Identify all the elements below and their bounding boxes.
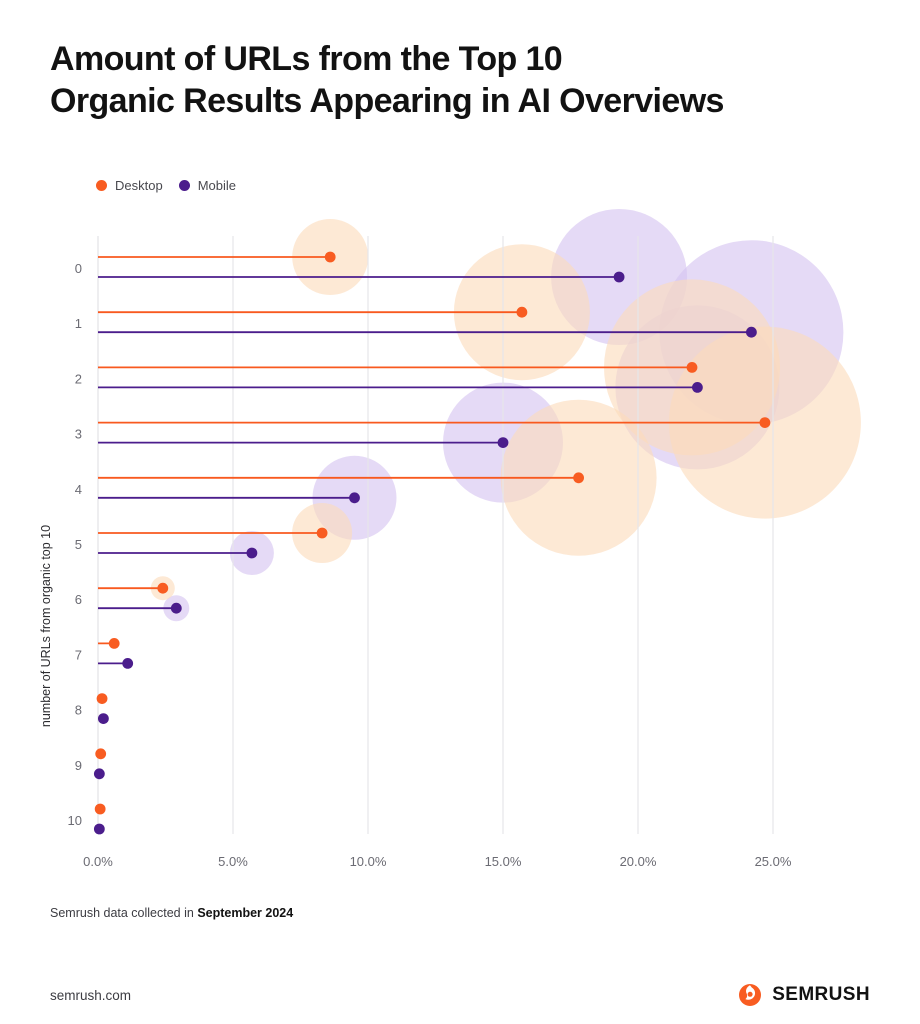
legend-item-mobile[interactable]: Mobile <box>179 178 236 193</box>
caption-prefix: Semrush data collected in <box>50 906 197 920</box>
point-mobile-0[interactable] <box>614 272 625 283</box>
point-desktop-3[interactable] <box>760 417 771 428</box>
x-tick-label: 5.0% <box>218 854 248 869</box>
brand-name: SEMRUSH <box>772 984 870 1006</box>
page-title: Amount of URLs from the Top 10 Organic R… <box>50 38 870 122</box>
x-tick-label: 15.0% <box>485 854 522 869</box>
y-tick-label: 3 <box>75 427 82 442</box>
y-tick-label: 9 <box>75 758 82 773</box>
legend-label-mobile: Mobile <box>198 178 236 193</box>
chart-legend: Desktop Mobile <box>96 178 236 193</box>
legend-item-desktop[interactable]: Desktop <box>96 178 163 193</box>
point-mobile-1[interactable] <box>746 327 757 338</box>
legend-dot-mobile <box>179 180 190 191</box>
page-title-line-2: Organic Results Appearing in AI Overview… <box>50 80 870 122</box>
x-tick-label: 25.0% <box>755 854 792 869</box>
point-desktop-10[interactable] <box>95 804 106 815</box>
point-desktop-5[interactable] <box>317 528 328 539</box>
brand-logo[interactable]: SEMRUSH <box>737 982 870 1008</box>
point-desktop-1[interactable] <box>517 307 528 318</box>
point-desktop-9[interactable] <box>95 748 106 759</box>
y-tick-label: 8 <box>75 703 82 718</box>
x-tick-label: 20.0% <box>620 854 657 869</box>
y-tick-label: 10 <box>68 813 82 828</box>
y-tick-label: 7 <box>75 647 82 662</box>
point-desktop-8[interactable] <box>97 693 108 704</box>
footer-url[interactable]: semrush.com <box>50 988 131 1003</box>
y-tick-label: 1 <box>75 316 82 331</box>
point-mobile-10[interactable] <box>94 824 105 835</box>
legend-label-desktop: Desktop <box>115 178 163 193</box>
page-title-line-1: Amount of URLs from the Top 10 <box>50 38 870 80</box>
y-tick-label: 2 <box>75 371 82 386</box>
chart-area: 0.0%5.0%10.0%15.0%20.0%25.0% 01234567891… <box>0 196 920 886</box>
legend-dot-desktop <box>96 180 107 191</box>
y-tick-label: 0 <box>75 261 82 276</box>
point-desktop-2[interactable] <box>687 362 698 373</box>
y-tick-label: 6 <box>75 592 82 607</box>
x-tick-label: 10.0% <box>350 854 387 869</box>
point-mobile-3[interactable] <box>498 437 509 448</box>
y-axis-title: number of URLs from organic top 10 <box>39 525 53 727</box>
x-axis-ticks: 0.0%5.0%10.0%15.0%20.0%25.0% <box>83 854 792 869</box>
point-mobile-2[interactable] <box>692 382 703 393</box>
lollipop-bubble-chart[interactable]: 0.0%5.0%10.0%15.0%20.0%25.0% 01234567891… <box>0 196 920 886</box>
bubbles-layer <box>151 209 861 621</box>
point-desktop-4[interactable] <box>573 472 584 483</box>
y-tick-label: 4 <box>75 482 82 497</box>
point-desktop-0[interactable] <box>325 252 336 263</box>
page-footer: semrush.com SEMRUSH <box>0 982 920 1024</box>
point-mobile-5[interactable] <box>247 548 258 559</box>
semrush-flame-icon <box>737 982 763 1008</box>
point-mobile-6[interactable] <box>171 603 182 614</box>
x-tick-label: 0.0% <box>83 854 113 869</box>
point-mobile-4[interactable] <box>349 492 360 503</box>
y-tick-label: 5 <box>75 537 82 552</box>
y-axis-ticks: 012345678910 <box>68 261 82 828</box>
chart-caption: Semrush data collected in September 2024 <box>50 906 293 920</box>
point-desktop-7[interactable] <box>109 638 120 649</box>
point-mobile-8[interactable] <box>98 713 109 724</box>
point-desktop-6[interactable] <box>157 583 168 594</box>
point-mobile-9[interactable] <box>94 768 105 779</box>
chart-page: Amount of URLs from the Top 10 Organic R… <box>0 0 920 1024</box>
caption-date: September 2024 <box>197 906 293 920</box>
point-mobile-7[interactable] <box>122 658 133 669</box>
